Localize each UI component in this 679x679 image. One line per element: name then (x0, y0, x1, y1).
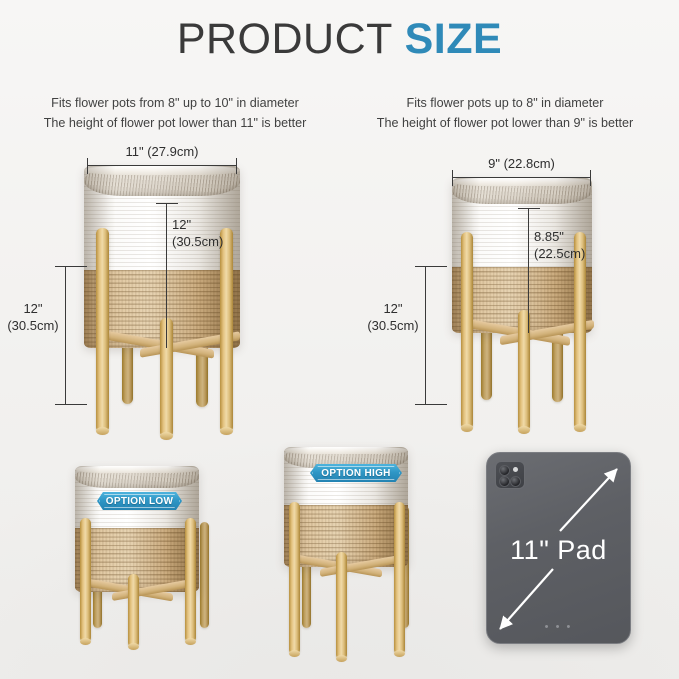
dim-large-width-line (87, 165, 237, 166)
dim-small-potheight-label: 8.85" (22.5cm) (534, 228, 630, 262)
optlow-foot-mid (128, 643, 139, 650)
opthigh-rim-lip (284, 447, 408, 454)
caption-left: Fits flower pots from 8" up to 10" in di… (8, 93, 342, 133)
optlow-leg-back-right (200, 522, 209, 628)
stand-foot-left (96, 427, 109, 435)
dim-large-potheight-label: 12" (30.5cm) (172, 216, 258, 250)
dim-large-potheight-line1: 12" (172, 216, 258, 233)
title-product-word: PRODUCT (177, 15, 405, 63)
dim-large-standheight-line (65, 266, 66, 405)
dim-small-standheight-label: 12" (30.5cm) (362, 300, 424, 334)
optlow-foot-right (185, 638, 196, 645)
stand-small-leg-front-left (461, 232, 473, 430)
dim-small-width-label: 9" (22.8cm) (452, 155, 591, 172)
dim-large-potheight-tick-top (156, 203, 178, 204)
dim-small-potheight-line (528, 208, 529, 333)
dim-large-potheight-line2: (30.5cm) (172, 233, 258, 250)
basket-small-rim-lip (452, 178, 592, 186)
stand-small-foot-left (461, 424, 473, 432)
stand-leg-front-left (96, 228, 109, 433)
optlow-leg-front-left (80, 518, 91, 643)
dim-large-standheight-tick-bottom (55, 404, 87, 405)
dim-small-width-tick-left (452, 170, 453, 186)
caption-left-line2: The height of flower pot lower than 11" … (8, 113, 342, 133)
dim-small-standheight-line1: 12" (362, 300, 424, 317)
opthigh-foot-left (289, 650, 300, 657)
opthigh-foot-right (394, 650, 405, 657)
optlow-foot-left (80, 638, 91, 645)
dim-small-width-tick-right (590, 170, 591, 186)
caption-right: Fits flower pots up to 8" in diameter Th… (338, 93, 672, 133)
dim-small-standheight-tick-bottom (415, 404, 447, 405)
dim-large-width-tick-right (236, 158, 237, 174)
basket-rim-lip (84, 166, 240, 175)
dim-large-standheight-tick-top (55, 266, 87, 267)
dim-small-potheight-line1: 8.85" (534, 228, 630, 245)
badge-option-high-label: OPTION HIGH (321, 468, 390, 479)
tablet-size-label: 11" Pad (487, 535, 630, 566)
dim-small-width-line (452, 177, 591, 178)
stand-small-foot-mid (518, 426, 530, 434)
basket-option-low (75, 466, 199, 592)
stand-foot-right (220, 427, 233, 435)
stand-small-foot-right (574, 424, 586, 432)
optlow-leg-front-mid (128, 574, 139, 648)
dim-large-potheight-line (166, 203, 167, 348)
tablet-bottom-dots: • • • (487, 621, 630, 633)
optlow-leg-front-right (185, 518, 196, 643)
badge-option-high: OPTION HIGH (310, 464, 402, 482)
dim-large-standheight-line2: (30.5cm) (2, 317, 64, 334)
stand-foot-mid (160, 432, 173, 440)
opthigh-leg-front-right (394, 502, 405, 655)
caption-right-line1: Fits flower pots up to 8" in diameter (338, 93, 672, 113)
opthigh-foot-mid (336, 655, 347, 662)
infographic-canvas: PRODUCT SIZE Fits flower pots from 8" up… (0, 0, 679, 679)
title-size-word: SIZE (405, 15, 503, 63)
dim-large-standheight-label: 12" (30.5cm) (2, 300, 64, 334)
opthigh-leg-front-left (289, 502, 300, 655)
caption-left-line1: Fits flower pots from 8" up to 10" in di… (8, 93, 342, 113)
dim-small-standheight-line (425, 266, 426, 405)
tablet-reference: 11" Pad • • • (486, 452, 631, 644)
stand-leg-front-right (220, 228, 233, 433)
dim-large-width-label: 11" (27.9cm) (87, 143, 237, 160)
badge-option-low: OPTION LOW (97, 492, 182, 510)
dim-small-standheight-line2: (30.5cm) (362, 317, 424, 334)
optlow-rim-lip (75, 466, 199, 473)
dim-small-standheight-tick-top (415, 266, 447, 267)
badge-option-low-label: OPTION LOW (106, 496, 173, 507)
dim-small-potheight-line2: (22.5cm) (534, 245, 630, 262)
opthigh-leg-front-mid (336, 552, 347, 660)
dim-large-width-tick-left (87, 158, 88, 174)
caption-right-line2: The height of flower pot lower than 9" i… (338, 113, 672, 133)
page-title: PRODUCT SIZE (0, 14, 679, 64)
dim-large-standheight-line1: 12" (2, 300, 64, 317)
dim-small-potheight-tick-top (518, 208, 540, 209)
